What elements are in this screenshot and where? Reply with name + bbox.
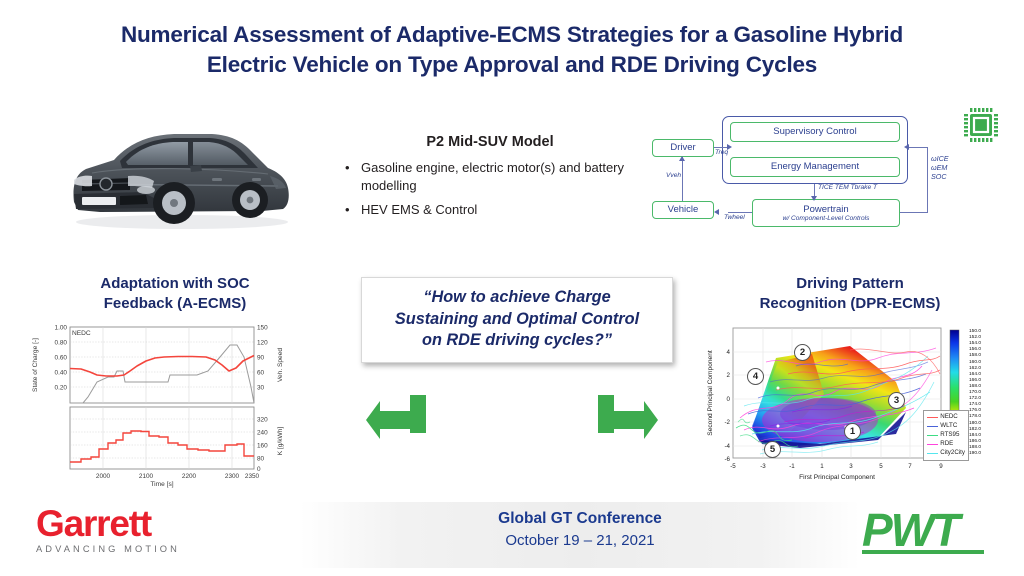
cluster-marker-5: 5 (764, 441, 781, 458)
svg-text:3: 3 (849, 463, 853, 470)
svg-text:2000: 2000 (96, 473, 111, 480)
cluster-marker-2: 2 (794, 344, 811, 361)
right-section-heading: Driving Pattern Recognition (DPR-ECMS) (700, 274, 1000, 313)
connector-driver-to-controller (714, 147, 728, 148)
svg-text:0: 0 (727, 396, 731, 403)
legend-item-rts95: RTS95 (927, 431, 965, 440)
left-heading-line-2: Feedback (A-ECMS) (30, 294, 320, 314)
quote-line-1: “How to achieve Charge (370, 287, 664, 309)
signal-t-wheel-label: Twheel (724, 214, 745, 221)
legend-item-city2city: City2City (927, 449, 965, 458)
legend-item-nedc: NEDC (927, 413, 965, 422)
svg-text:Time [s]: Time [s] (150, 481, 173, 488)
conference-name: Global GT Conference (300, 508, 860, 530)
slide-root: Numerical Assessment of Adaptive-ECMS St… (0, 0, 1024, 576)
colorbar-tick: 166.0 (969, 379, 981, 384)
powertrain-label: Powertrain (803, 204, 848, 215)
elbow-arrow-right-icon (594, 393, 658, 460)
signal-t-req-label: Treq (715, 149, 728, 156)
arrowhead-icon (811, 196, 817, 201)
svg-text:7: 7 (908, 463, 912, 470)
legend-label: RTS95 (940, 431, 959, 440)
supervisory-control-label: Supervisory Control (773, 127, 856, 137)
colorbar-tick: 168.0 (969, 385, 981, 390)
signal-omega-ice-label: ωICE (931, 154, 949, 163)
svg-text:5: 5 (879, 463, 883, 470)
svg-text:150: 150 (257, 325, 268, 332)
svg-text:State of Charge [-]: State of Charge [-] (32, 338, 39, 392)
svg-text:1: 1 (820, 463, 824, 470)
svg-text:-1: -1 (789, 463, 795, 470)
svg-text:0.60: 0.60 (55, 355, 68, 362)
svg-text:1.00: 1.00 (55, 325, 68, 332)
svg-text:60: 60 (257, 370, 265, 377)
vehicle-image (62, 118, 302, 238)
svg-text:0.20: 0.20 (55, 385, 68, 392)
signal-v-veh-label: Vveh (666, 172, 681, 179)
feedback-line-v (927, 147, 928, 213)
list-item-label: Gasoline engine, electric motor(s) and b… (361, 159, 635, 195)
svg-text:9: 9 (939, 463, 943, 470)
svg-text:2300: 2300 (225, 473, 240, 480)
svg-text:-4: -4 (724, 443, 730, 450)
conference-dates: October 19 – 21, 2021 (300, 530, 860, 552)
connector-vehicle-to-driver (682, 157, 683, 201)
svg-text:PWT: PWT (862, 506, 964, 556)
svg-text:-2: -2 (724, 419, 730, 426)
svg-text:2350: 2350 (245, 473, 260, 480)
colorbar-tick: 188.0 (969, 446, 981, 451)
vehicle-box: Vehicle (652, 201, 714, 219)
powertrain-sublabel: w/ Component-Level Controls (783, 215, 870, 223)
list-item-label: HEV EMS & Control (361, 201, 635, 219)
connector-powertrain-to-vehicle (728, 212, 752, 213)
bullet-icon: • (345, 201, 361, 219)
a-ecms-chart: 1.00 0.80 0.60 0.40 0.20 150 120 90 60 3… (26, 323, 322, 488)
quote-line-3: on RDE driving cycles?” (370, 330, 664, 352)
title-line-2: Electric Vehicle on Type Approval and RD… (40, 50, 984, 80)
svg-text:0: 0 (257, 466, 261, 473)
legend-label: City2City (940, 449, 965, 458)
svg-text:2: 2 (727, 372, 731, 379)
garrett-logo: Garrett ADVANCING MOTION (36, 505, 180, 554)
cluster-marker-1: 1 (844, 423, 861, 440)
colorbar-tick: 158.0 (969, 354, 981, 359)
svg-text:-3: -3 (760, 463, 766, 470)
arrowhead-icon (904, 144, 909, 150)
colorbar-tick: 186.0 (969, 440, 981, 445)
research-question-callout: “How to achieve Charge Sustaining and Op… (361, 277, 673, 363)
svg-text:2100: 2100 (139, 473, 154, 480)
list-item: • HEV EMS & Control (345, 201, 635, 219)
svg-text:Second Principal Component: Second Principal Component (707, 350, 714, 436)
colorbar-tick: 182.0 (969, 428, 981, 433)
chart-legend: NEDC WLTC RTS95 RDE City2City (923, 410, 969, 461)
legend-swatch-icon (927, 444, 938, 446)
feedback-signals-label: ωICE ωEM SOC (931, 154, 949, 181)
microchip-icon (961, 105, 1001, 150)
model-description: P2 Mid-SUV Model • Gasoline engine, elec… (345, 134, 635, 225)
colorbar-tick: 184.0 (969, 434, 981, 439)
legend-swatch-icon (927, 453, 938, 455)
legend-swatch-icon (927, 417, 938, 419)
bullet-icon: • (345, 159, 361, 177)
legend-item-rde: RDE (927, 440, 965, 449)
driver-label: Driver (670, 143, 695, 153)
driver-box: Driver (652, 139, 714, 157)
svg-text:120: 120 (257, 340, 268, 347)
elbow-arrow-left-icon (366, 393, 430, 460)
garrett-wordmark: Garrett (36, 505, 180, 542)
colorbar-tick: 162.0 (969, 367, 981, 372)
svg-text:30: 30 (257, 385, 265, 392)
signal-soc-label: SOC (931, 172, 949, 181)
svg-text:-5: -5 (730, 463, 736, 470)
supervisory-control-box: Supervisory Control (730, 122, 900, 142)
legend-label: RDE (940, 440, 953, 449)
title-line-1: Numerical Assessment of Adaptive-ECMS St… (40, 20, 984, 50)
svg-text:90: 90 (257, 355, 265, 362)
cluster-marker-3: 3 (888, 392, 905, 409)
page-title: Numerical Assessment of Adaptive-ECMS St… (40, 20, 984, 81)
garrett-tagline: ADVANCING MOTION (36, 544, 180, 554)
energy-management-label: Energy Management (771, 162, 859, 172)
list-item: • Gasoline engine, electric motor(s) and… (345, 159, 635, 195)
svg-text:4: 4 (727, 349, 731, 356)
legend-swatch-icon (927, 435, 938, 437)
pwt-logo: PWT (862, 506, 984, 563)
arrowhead-icon (679, 156, 685, 161)
arrowhead-icon (714, 209, 719, 215)
legend-label: WLTC (940, 422, 957, 431)
legend-swatch-icon (927, 426, 938, 428)
conference-info: Global GT Conference October 19 – 21, 20… (300, 508, 860, 552)
left-section-heading: Adaptation with SOC Feedback (A-ECMS) (30, 274, 320, 313)
colorbar-tick: 178.0 (969, 415, 981, 420)
svg-text:160: 160 (257, 443, 268, 450)
colorbar-tick: 180.0 (969, 422, 981, 427)
svg-text:80: 80 (257, 456, 265, 463)
dpr-ecms-chart: -5-3 -11 35 79 42 0-2 -4-6 First Princip… (700, 322, 1000, 492)
colorbar-tick: 160.0 (969, 361, 981, 366)
control-architecture-diagram: Supervisory Control Energy Management Dr… (648, 108, 978, 240)
svg-text:0.80: 0.80 (55, 340, 68, 347)
svg-text:320: 320 (257, 417, 268, 424)
svg-text:K [g/kWh]: K [g/kWh] (277, 427, 284, 456)
cluster-marker-4: 4 (747, 368, 764, 385)
energy-management-box: Energy Management (730, 157, 900, 177)
colorbar-tick: 190.0 (969, 452, 981, 457)
signal-omega-em-label: ωEM (931, 163, 949, 172)
colorbar-tick: 164.0 (969, 373, 981, 378)
svg-text:NEDC: NEDC (72, 330, 91, 337)
right-heading-line-2: Recognition (DPR-ECMS) (700, 294, 1000, 314)
feedback-line-h-bottom (900, 212, 928, 213)
svg-text:Veh. Speed: Veh. Speed (277, 348, 284, 382)
powertrain-box: Powertrain w/ Component-Level Controls (752, 199, 900, 227)
svg-text:240: 240 (257, 430, 268, 437)
legend-label: NEDC (940, 413, 958, 422)
signal-torques-label: TICE TEM Tbrake T (818, 184, 877, 191)
quote-line-2: Sustaining and Optimal Control (370, 309, 664, 331)
model-heading: P2 Mid-SUV Model (345, 134, 635, 150)
svg-text:0.40: 0.40 (55, 370, 68, 377)
right-heading-line-1: Driving Pattern (700, 274, 1000, 294)
svg-text:2200: 2200 (182, 473, 197, 480)
legend-item-wltc: WLTC (927, 422, 965, 431)
svg-text:First Principal Component: First Principal Component (799, 474, 875, 481)
left-heading-line-1: Adaptation with SOC (30, 274, 320, 294)
feedback-line-h-top (909, 147, 928, 148)
vehicle-label: Vehicle (668, 205, 699, 215)
svg-text:-6: -6 (724, 456, 730, 463)
